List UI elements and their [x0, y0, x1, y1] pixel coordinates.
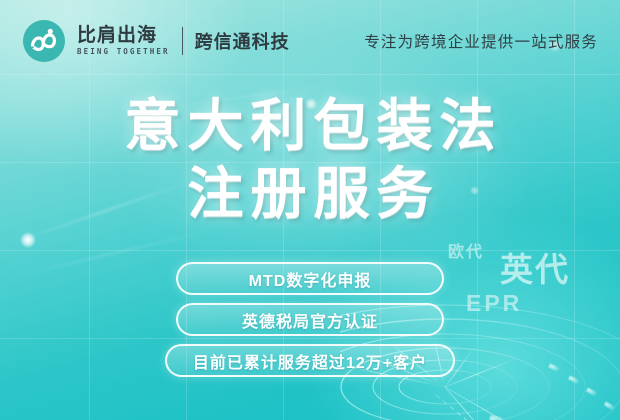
- brand-divider: [182, 27, 183, 55]
- hero-title-line-2: 注册服务: [0, 160, 620, 228]
- brand-name-en: BEING TOGETHER: [77, 48, 170, 56]
- watermark-oudai: 欧代: [448, 238, 484, 262]
- header-tagline: 专注为跨境企业提供一站式服务: [364, 30, 598, 52]
- promo-banner: 欧代 英代 EPR 比肩出海 BEING TOGETHER 跨信通科技 专注为跨…: [0, 0, 620, 420]
- feature-pill-certification[interactable]: 英德税局官方认证: [176, 303, 444, 336]
- brand-name-cn: 比肩出海: [77, 26, 170, 45]
- sparkle-dot: [20, 232, 36, 248]
- brand-lockup: 比肩出海 BEING TOGETHER 跨信通科技: [22, 19, 290, 63]
- feature-pill-customer-count[interactable]: 目前已累计服务超过12万+客户: [165, 344, 455, 377]
- hero-title: 意大利包装法 注册服务: [0, 92, 620, 228]
- beingtogether-circle-logo-icon: [22, 19, 66, 63]
- brand-text-block: 比肩出海 BEING TOGETHER 跨信通科技: [77, 26, 290, 56]
- hero-title-line-1: 意大利包装法: [0, 92, 620, 160]
- banner-header: 比肩出海 BEING TOGETHER 跨信通科技 专注为跨境企业提供一站式服务: [0, 0, 620, 82]
- feature-pill-list: MTD数字化申报 英德税局官方认证 目前已累计服务超过12万+客户: [0, 262, 620, 377]
- brand-subsidiary-name: 跨信通科技: [195, 28, 290, 54]
- brand-primary: 比肩出海 BEING TOGETHER: [77, 26, 170, 56]
- feature-pill-mtd[interactable]: MTD数字化申报: [176, 262, 444, 295]
